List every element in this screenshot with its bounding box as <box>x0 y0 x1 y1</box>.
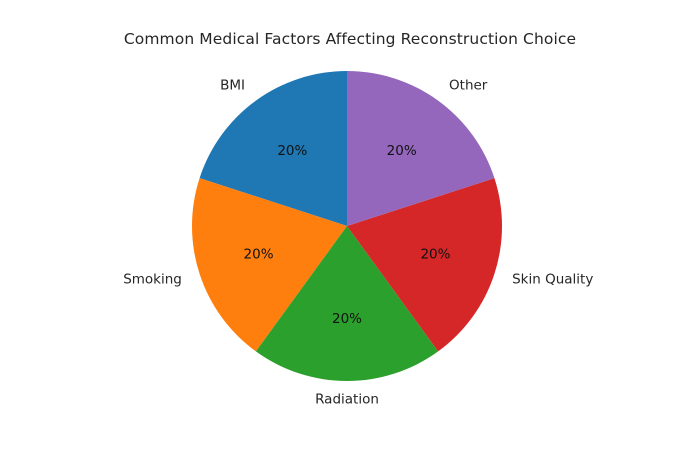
pie-chart-figure: Common Medical Factors Affecting Reconst… <box>0 0 700 450</box>
pie-percent-label-radiation: 20% <box>332 311 362 327</box>
pie-category-label-radiation: Radiation <box>315 392 379 408</box>
pie-category-label-smoking: Smoking <box>123 272 182 288</box>
pie-category-label-bmi: BMI <box>220 78 245 94</box>
pie-chart-canvas: 20%20%20%20%20% BMISmokingRadiationSkin … <box>0 0 700 450</box>
pie-percent-label-other: 20% <box>387 143 417 159</box>
pie-percent-label-smoking: 20% <box>244 247 274 263</box>
pie-percent-label-skin-quality: 20% <box>420 247 450 263</box>
pie-percent-label-bmi: 20% <box>277 143 307 159</box>
pie-slices-group <box>192 71 502 381</box>
pie-category-label-other: Other <box>449 78 488 94</box>
pie-category-label-skin-quality: Skin Quality <box>512 272 593 288</box>
